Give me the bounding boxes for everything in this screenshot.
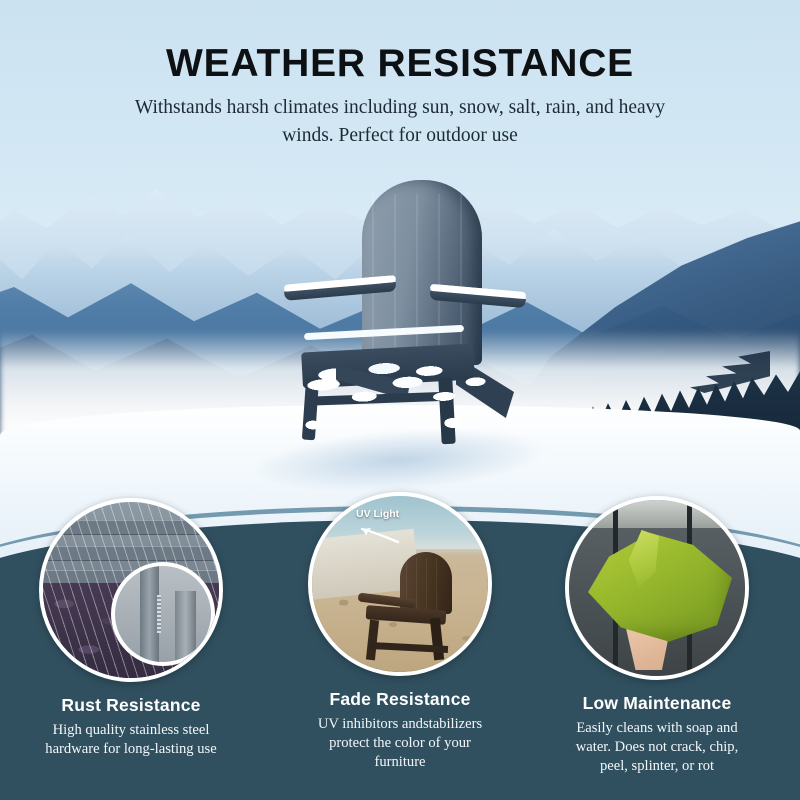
stainless-bolt-icon (157, 595, 161, 633)
feature-title-fade: Fade Resistance (305, 689, 495, 710)
feature-desc-fade: UV inhibitors andstabilizers protect the… (305, 715, 495, 772)
hardware-closeup-inset (111, 562, 215, 666)
beach-chair-photo (312, 496, 488, 672)
brown-adirondack-chair (358, 552, 468, 662)
uv-arrow-icon (358, 524, 400, 546)
snow-covered-adirondack-chair (278, 180, 528, 450)
snow-on-right-leg (436, 406, 470, 440)
green-microfiber-cloth (585, 526, 735, 644)
feature-desc-rust: High quality stainless steel hardware fo… (36, 721, 226, 759)
weather-resistance-infographic: WEATHER RESISTANCE Withstands harsh clim… (0, 0, 800, 800)
page-title: WEATHER RESISTANCE (0, 42, 800, 86)
snow-on-left-leg (300, 412, 326, 438)
feature-card-rust-resistance[interactable]: Rust Resistance High quality stainless s… (36, 498, 226, 759)
feature-image-low-maintenance (565, 496, 749, 680)
feature-image-rust (39, 498, 223, 682)
feature-title-low-maintenance: Low Maintenance (562, 693, 752, 714)
feature-card-low-maintenance[interactable]: Low Maintenance Easily cleans with soap … (562, 496, 752, 776)
feature-title-rust: Rust Resistance (36, 695, 226, 716)
cleaning-cloth-photo (569, 500, 745, 676)
feature-desc-low-maintenance: Easily cleans with soap and water. Does … (562, 719, 752, 776)
deck-edge (569, 500, 745, 528)
feature-image-fade: UV Light (308, 492, 492, 676)
page-subtitle: Withstands harsh climates including sun,… (110, 94, 690, 150)
feature-card-fade-resistance[interactable]: UV Light Fade Resistance UV inhibitors a… (305, 492, 495, 772)
uv-light-label: UV Light (356, 508, 399, 520)
